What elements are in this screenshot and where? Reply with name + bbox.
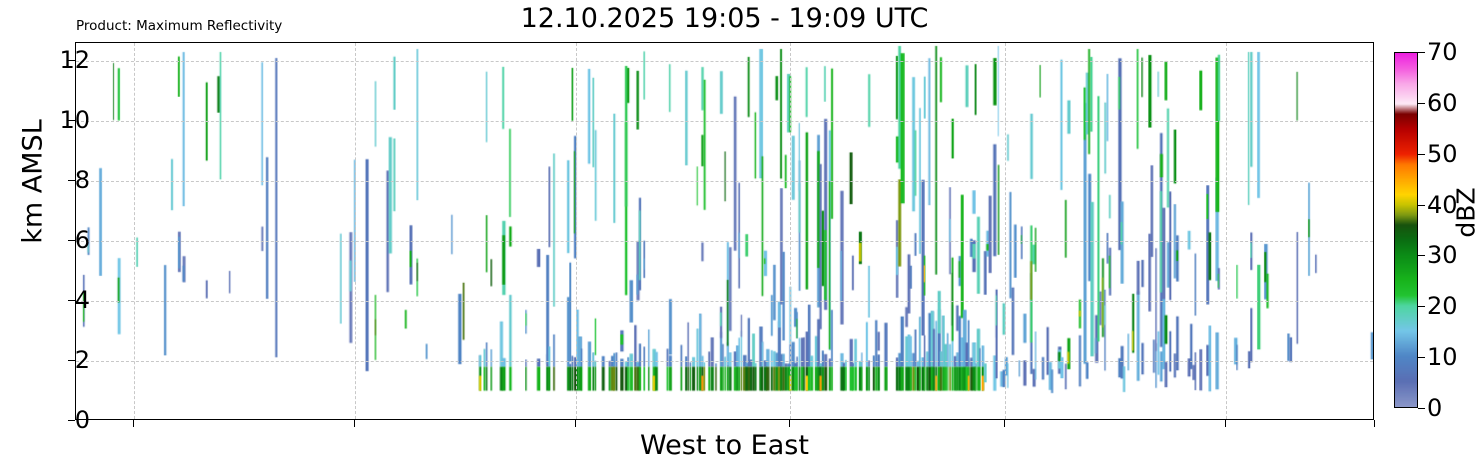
- x-tick-mark: [789, 420, 790, 427]
- x-tick-mark: [1374, 420, 1375, 427]
- colorbar-tick-label: 60: [1427, 91, 1458, 115]
- colorbar-tick-label: 10: [1427, 345, 1458, 369]
- radar-cross-section-figure: 12.10.2025 19:05 - 19:09 UTC Product: Ma…: [0, 0, 1482, 470]
- y-tick-label: 4: [75, 288, 90, 312]
- colorbar-tick-label: 0: [1427, 396, 1442, 420]
- colorbar-tick-mark: [1418, 52, 1425, 53]
- product-annotation: Product: Maximum Reflectivity: [76, 18, 282, 34]
- colorbar-tick-mark: [1418, 408, 1425, 409]
- x-tick-mark: [1225, 420, 1226, 427]
- colorbar-label: dBZ: [1452, 153, 1481, 273]
- colorbar-tick-mark: [1418, 103, 1425, 104]
- x-tick-mark: [1004, 420, 1005, 427]
- colorbar-tick-label: 70: [1427, 40, 1458, 64]
- x-tick-mark: [575, 420, 576, 427]
- y-tick-label: 10: [59, 108, 90, 132]
- x-axis-label: West to East: [75, 430, 1374, 461]
- colorbar-tick-label: 20: [1427, 294, 1458, 318]
- y-tick-label: 0: [75, 408, 90, 432]
- y-tick-label: 2: [75, 348, 90, 372]
- y-tick-label: 8: [75, 168, 90, 192]
- y-axis-label: km AMSL: [18, 87, 49, 277]
- colorbar-tick-mark: [1418, 306, 1425, 307]
- y-tick-label: 12: [59, 48, 90, 72]
- colorbar-tick-mark: [1418, 357, 1425, 358]
- colorbar-tick-mark: [1418, 154, 1425, 155]
- colorbar-tick-mark: [1418, 205, 1425, 206]
- plot-area: [75, 42, 1374, 420]
- y-tick-label: 6: [75, 228, 90, 252]
- colorbar-gradient: [1394, 52, 1418, 408]
- x-tick-mark: [133, 420, 134, 427]
- reflectivity-heatmap: [76, 43, 1373, 419]
- colorbar: [1394, 52, 1418, 408]
- colorbar-tick-mark: [1418, 255, 1425, 256]
- x-tick-mark: [354, 420, 355, 427]
